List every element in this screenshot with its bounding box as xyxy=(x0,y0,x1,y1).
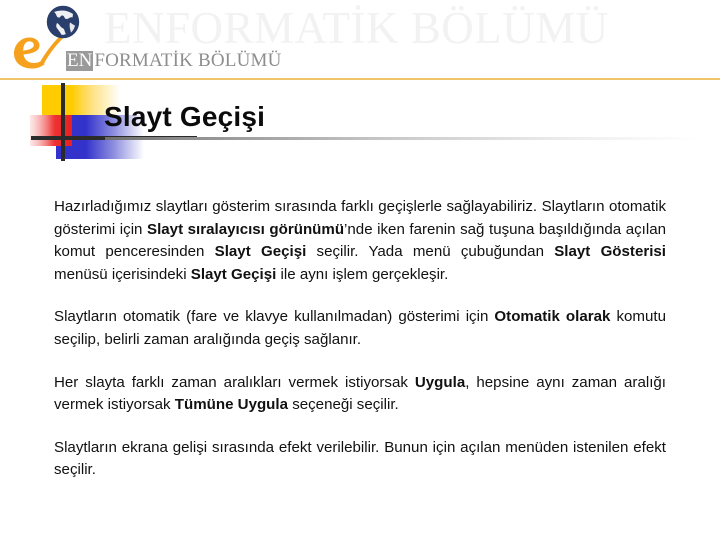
plain-text: ile aynı işlem gerçekleşir. xyxy=(276,266,448,283)
title-underline xyxy=(105,137,700,140)
plain-text: Her slayta farklı zaman aralıkları verme… xyxy=(54,374,415,391)
emphasis-text: Slayt Gösterisi xyxy=(554,243,666,260)
emphasis-text: Slayt sıralayıcısı görünümü xyxy=(147,221,344,238)
decoration-line-vertical xyxy=(61,83,65,161)
plain-text: Slaytların otomatik (fare ve klavye kull… xyxy=(54,308,494,325)
slide-title: Slayt Geçişi xyxy=(104,103,265,131)
body-paragraph: Slaytların otomatik (fare ve klavye kull… xyxy=(54,306,666,351)
body-paragraph: Hazırladığımız slaytları gösterim sırası… xyxy=(54,196,666,286)
decoration-square-red-fade xyxy=(30,115,72,146)
slide-body: Hazırladığımız slaytları gösterim sırası… xyxy=(54,196,666,482)
plain-text: Slaytların ekrana gelişi sırasında efekt… xyxy=(54,439,666,479)
emphasis-text: Uygula xyxy=(415,374,465,391)
plain-text: menüsü içerisindeki xyxy=(54,266,191,283)
body-paragraph: Slaytların ekrana gelişi sırasında efekt… xyxy=(54,437,666,482)
plain-text: seçilir. Yada menü çubuğundan xyxy=(306,243,554,260)
emphasis-text: Slayt Geçişi xyxy=(191,266,277,283)
emphasis-text: Otomatik olarak xyxy=(494,308,610,325)
emphasis-text: Slayt Geçişi xyxy=(215,243,307,260)
title-decoration xyxy=(0,0,200,175)
presentation-slide: ENFORMATİK BÖLÜMÜ EN FORMATİK BÖLÜMÜ xyxy=(0,0,720,540)
emphasis-text: Tümüne Uygula xyxy=(175,396,288,413)
plain-text: seçeneği seçilir. xyxy=(288,396,399,413)
body-paragraph: Her slayta farklı zaman aralıkları verme… xyxy=(54,372,666,417)
